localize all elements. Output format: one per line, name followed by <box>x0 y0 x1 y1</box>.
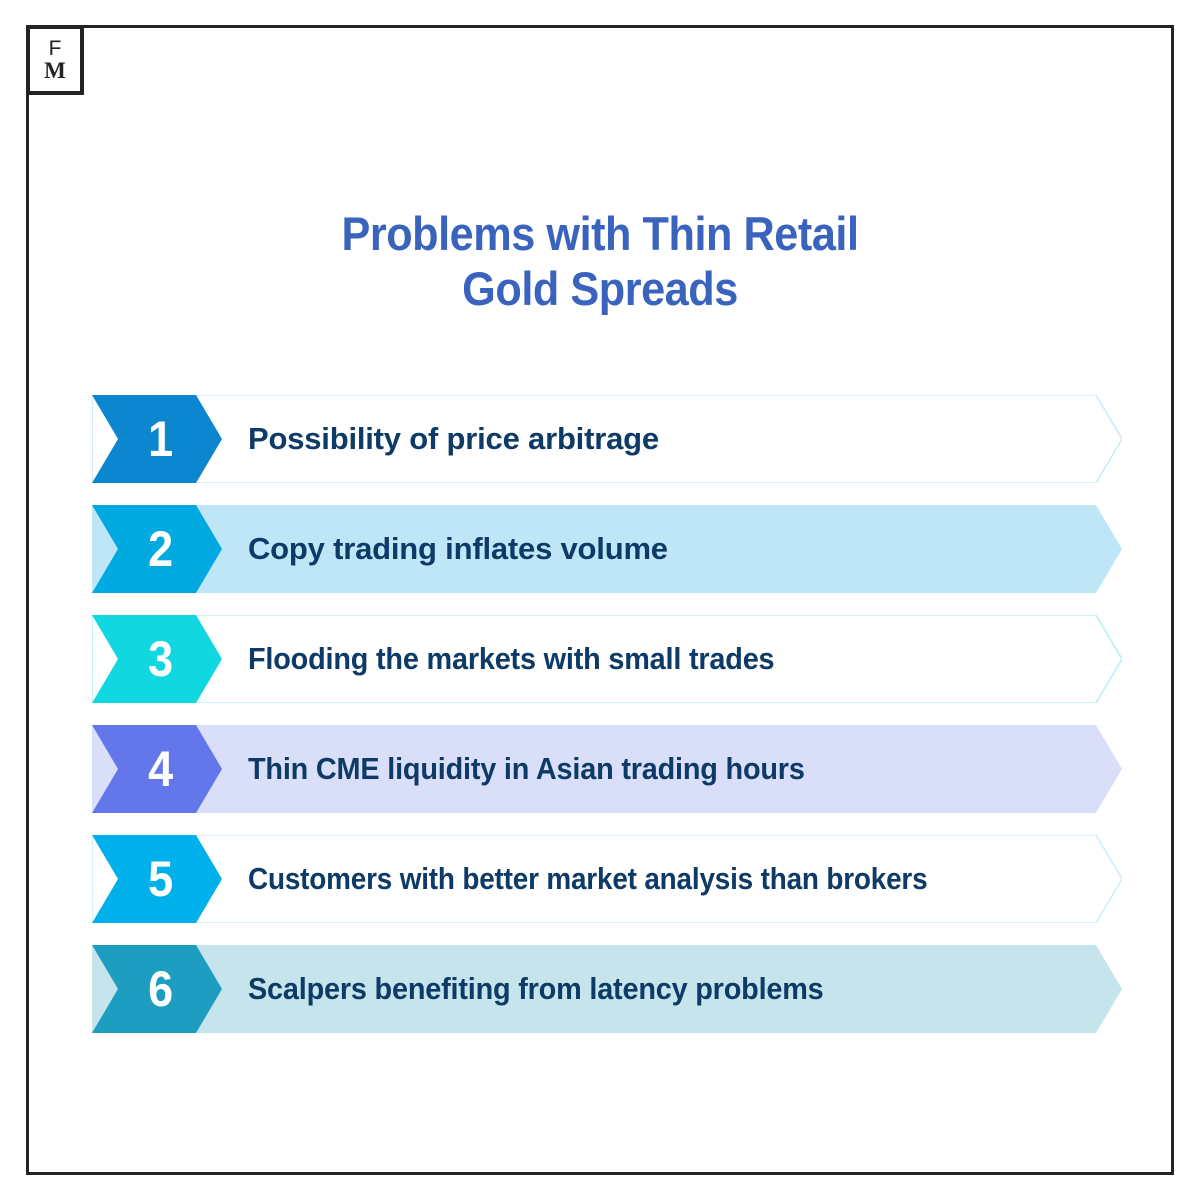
list-item-number: 2 <box>99 505 216 593</box>
list-item-number: 6 <box>99 945 216 1033</box>
list-item-number: 3 <box>99 615 216 703</box>
logo-letter-m: M <box>44 60 66 82</box>
list-item[interactable]: 6Scalpers benefiting from latency proble… <box>92 945 1122 1033</box>
list-item[interactable]: 4Thin CME liquidity in Asian trading hou… <box>92 725 1122 813</box>
list-item-label: Flooding the markets with small trades <box>248 615 774 703</box>
list-item-label: Copy trading inflates volume <box>248 505 668 593</box>
list-item-label: Thin CME liquidity in Asian trading hour… <box>248 725 805 813</box>
list-item[interactable]: 5Customers with better market analysis t… <box>92 835 1122 923</box>
list-item-number: 4 <box>99 725 216 813</box>
list-item[interactable]: 2Copy trading inflates volume <box>92 505 1122 593</box>
list-item-number: 5 <box>99 835 216 923</box>
items-list: 1Possibility of price arbitrage2Copy tra… <box>0 0 1200 1200</box>
list-item-number: 1 <box>99 395 216 483</box>
infographic-page: F M Problems with Thin Retail Gold Sprea… <box>0 0 1200 1200</box>
logo-letter-f: F <box>49 39 62 59</box>
list-item-label: Possibility of price arbitrage <box>248 395 659 483</box>
list-item[interactable]: 1Possibility of price arbitrage <box>92 395 1122 483</box>
list-item-label: Customers with better market analysis th… <box>248 835 927 923</box>
list-item-label: Scalpers benefiting from latency problem… <box>248 945 824 1033</box>
list-item[interactable]: 3Flooding the markets with small trades <box>92 615 1122 703</box>
fm-logo: F M <box>26 25 84 95</box>
